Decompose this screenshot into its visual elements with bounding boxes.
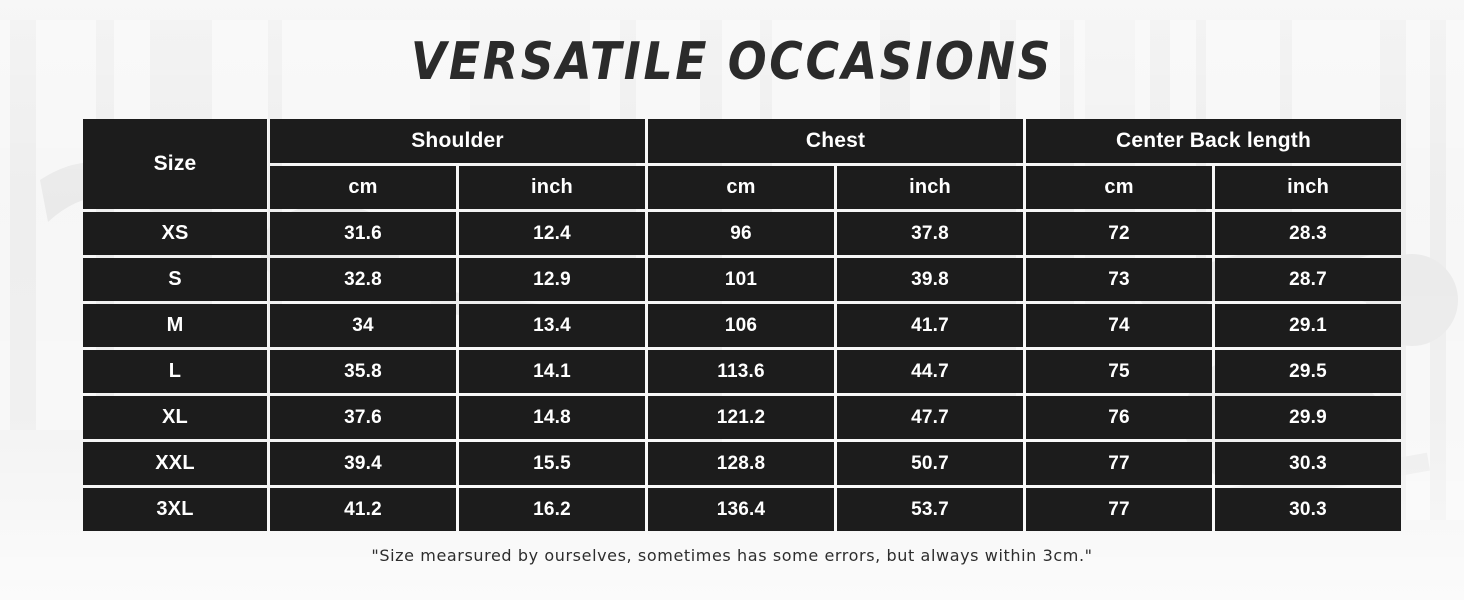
- unit-header-chest-cm: cm: [648, 166, 834, 209]
- cell-chest-inch: 41.7: [837, 304, 1023, 347]
- unit-header-shoulder-cm: cm: [270, 166, 456, 209]
- cell-shoulder-cm: 35.8: [270, 350, 456, 393]
- cell-size: L: [83, 350, 267, 393]
- cell-back-inch: 28.3: [1215, 212, 1401, 255]
- cell-chest-inch: 37.8: [837, 212, 1023, 255]
- cell-back-inch: 30.3: [1215, 442, 1401, 485]
- cell-chest-inch: 53.7: [837, 488, 1023, 531]
- table-body: XS 31.6 12.4 96 37.8 72 28.3 S 32.8 12.9…: [83, 212, 1401, 531]
- cell-chest-cm: 96: [648, 212, 834, 255]
- table-row: S 32.8 12.9 101 39.8 73 28.7: [83, 258, 1401, 301]
- column-group-shoulder: Shoulder: [270, 119, 645, 163]
- unit-header-back-inch: inch: [1215, 166, 1401, 209]
- cell-back-inch: 29.5: [1215, 350, 1401, 393]
- cell-chest-cm: 121.2: [648, 396, 834, 439]
- cell-size: 3XL: [83, 488, 267, 531]
- cell-chest-inch: 47.7: [837, 396, 1023, 439]
- table-row: 3XL 41.2 16.2 136.4 53.7 77 30.3: [83, 488, 1401, 531]
- cell-shoulder-inch: 13.4: [459, 304, 645, 347]
- cell-size: S: [83, 258, 267, 301]
- cell-shoulder-cm: 39.4: [270, 442, 456, 485]
- header-row-units: cm inch cm inch cm inch: [83, 166, 1401, 209]
- table-row: L 35.8 14.1 113.6 44.7 75 29.5: [83, 350, 1401, 393]
- cell-size: XS: [83, 212, 267, 255]
- header-row-groups: Size Shoulder Chest Center Back length: [83, 119, 1401, 163]
- cell-shoulder-inch: 15.5: [459, 442, 645, 485]
- cell-chest-inch: 50.7: [837, 442, 1023, 485]
- cell-size: M: [83, 304, 267, 347]
- cell-shoulder-inch: 16.2: [459, 488, 645, 531]
- cell-shoulder-inch: 14.1: [459, 350, 645, 393]
- cell-shoulder-inch: 12.4: [459, 212, 645, 255]
- cell-chest-cm: 106: [648, 304, 834, 347]
- table-row: XS 31.6 12.4 96 37.8 72 28.3: [83, 212, 1401, 255]
- table-row: M 34 13.4 106 41.7 74 29.1: [83, 304, 1401, 347]
- cell-shoulder-cm: 32.8: [270, 258, 456, 301]
- unit-header-chest-inch: inch: [837, 166, 1023, 209]
- cell-back-cm: 72: [1026, 212, 1212, 255]
- cell-size: XL: [83, 396, 267, 439]
- measurement-disclaimer: "Size mearsured by ourselves, sometimes …: [0, 546, 1464, 565]
- cell-size: XXL: [83, 442, 267, 485]
- cell-back-inch: 29.9: [1215, 396, 1401, 439]
- size-chart-page: VERSATILE OCCASIONS Size Shoulder Chest …: [0, 0, 1464, 600]
- page-title: VERSATILE OCCASIONS: [88, 34, 1376, 91]
- unit-header-back-cm: cm: [1026, 166, 1212, 209]
- cell-back-cm: 75: [1026, 350, 1212, 393]
- size-chart-table: Size Shoulder Chest Center Back length c…: [80, 116, 1404, 534]
- column-group-chest: Chest: [648, 119, 1023, 163]
- cell-back-cm: 74: [1026, 304, 1212, 347]
- cell-back-inch: 30.3: [1215, 488, 1401, 531]
- unit-header-shoulder-inch: inch: [459, 166, 645, 209]
- cell-chest-inch: 39.8: [837, 258, 1023, 301]
- cell-chest-inch: 44.7: [837, 350, 1023, 393]
- column-group-center-back-length: Center Back length: [1026, 119, 1401, 163]
- cell-back-cm: 77: [1026, 488, 1212, 531]
- cell-back-inch: 28.7: [1215, 258, 1401, 301]
- table-row: XXL 39.4 15.5 128.8 50.7 77 30.3: [83, 442, 1401, 485]
- cell-shoulder-cm: 41.2: [270, 488, 456, 531]
- cell-back-cm: 76: [1026, 396, 1212, 439]
- cell-shoulder-inch: 14.8: [459, 396, 645, 439]
- cell-shoulder-cm: 34: [270, 304, 456, 347]
- cell-back-cm: 77: [1026, 442, 1212, 485]
- cell-shoulder-cm: 31.6: [270, 212, 456, 255]
- cell-shoulder-inch: 12.9: [459, 258, 645, 301]
- column-header-size: Size: [83, 119, 267, 209]
- cell-shoulder-cm: 37.6: [270, 396, 456, 439]
- table-header: Size Shoulder Chest Center Back length c…: [83, 119, 1401, 209]
- table-row: XL 37.6 14.8 121.2 47.7 76 29.9: [83, 396, 1401, 439]
- cell-back-inch: 29.1: [1215, 304, 1401, 347]
- cell-chest-cm: 128.8: [648, 442, 834, 485]
- cell-chest-cm: 101: [648, 258, 834, 301]
- cell-chest-cm: 113.6: [648, 350, 834, 393]
- cell-chest-cm: 136.4: [648, 488, 834, 531]
- cell-back-cm: 73: [1026, 258, 1212, 301]
